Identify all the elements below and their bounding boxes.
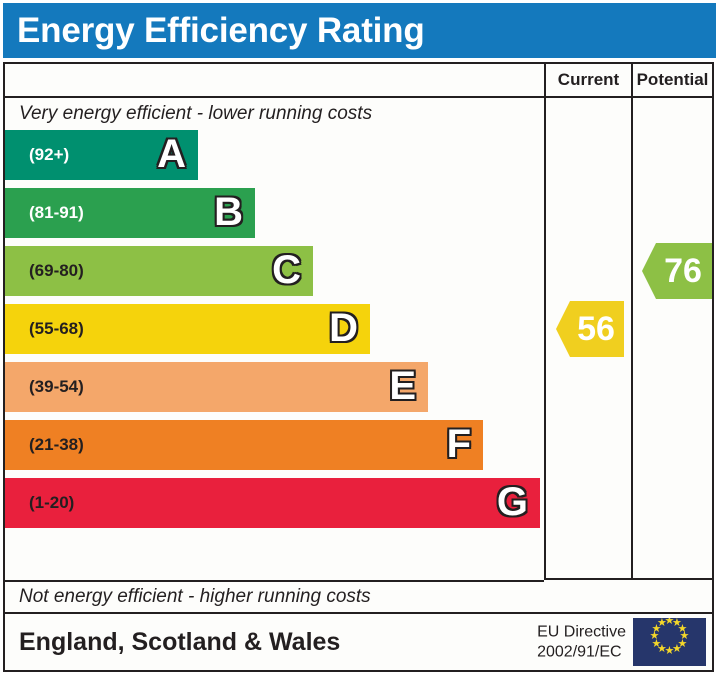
chart-header-bar: Energy Efficiency Rating (3, 3, 716, 58)
band-g: (1-20) G (5, 478, 540, 528)
footer-divider-rule (544, 578, 712, 580)
band-range-c: (69-80) (5, 261, 84, 281)
band-range-g: (1-20) (5, 493, 74, 513)
rating-bands: (92+) A (81-91) B (69-80) C (55-68) D (3… (5, 130, 542, 540)
caption-very-efficient: Very energy efficient - lower running co… (5, 98, 542, 130)
eu-directive-text: EU Directive 2002/91/EC (537, 622, 626, 661)
column-header-potential: Potential (631, 64, 712, 96)
band-letter-e: E (389, 366, 416, 406)
column-header-row: Current Potential (5, 64, 712, 98)
band-range-f: (21-38) (5, 435, 84, 455)
band-d: (55-68) D (5, 304, 370, 354)
band-range-b: (81-91) (5, 203, 84, 223)
eu-flag-icon (633, 618, 706, 666)
band-letter-b: B (214, 192, 243, 232)
caption-not-efficient: Not energy efficient - higher running co… (5, 580, 544, 612)
column-divider-potential (631, 98, 633, 580)
band-f: (21-38) F (5, 420, 483, 470)
band-letter-d: D (329, 308, 358, 348)
band-a: (92+) A (5, 130, 198, 180)
column-header-current: Current (544, 64, 631, 96)
band-e: (39-54) E (5, 362, 428, 412)
band-b: (81-91) B (5, 188, 255, 238)
chart-frame: Current Potential Very energy efficient … (3, 62, 714, 614)
eu-directive-line1: EU Directive (537, 622, 626, 642)
energy-efficiency-certificate: Energy Efficiency Rating Current Potenti… (0, 0, 719, 675)
page-title: Energy Efficiency Rating (3, 13, 425, 48)
potential-rating-arrow: 76 (642, 243, 712, 299)
band-c: (69-80) C (5, 246, 313, 296)
band-range-d: (55-68) (5, 319, 84, 339)
chart-footer: England, Scotland & Wales EU Directive 2… (3, 614, 714, 672)
eu-directive-line2: 2002/91/EC (537, 642, 626, 662)
potential-rating-value: 76 (652, 254, 702, 288)
band-range-a: (92+) (5, 145, 69, 165)
column-divider-current (544, 98, 546, 580)
band-letter-c: C (272, 250, 301, 290)
band-letter-f: F (447, 424, 471, 464)
band-letter-g: G (497, 482, 528, 522)
band-range-e: (39-54) (5, 377, 84, 397)
current-rating-value: 56 (565, 312, 615, 346)
band-letter-a: A (157, 134, 186, 174)
region-label: England, Scotland & Wales (5, 628, 340, 657)
current-rating-arrow: 56 (556, 301, 624, 357)
